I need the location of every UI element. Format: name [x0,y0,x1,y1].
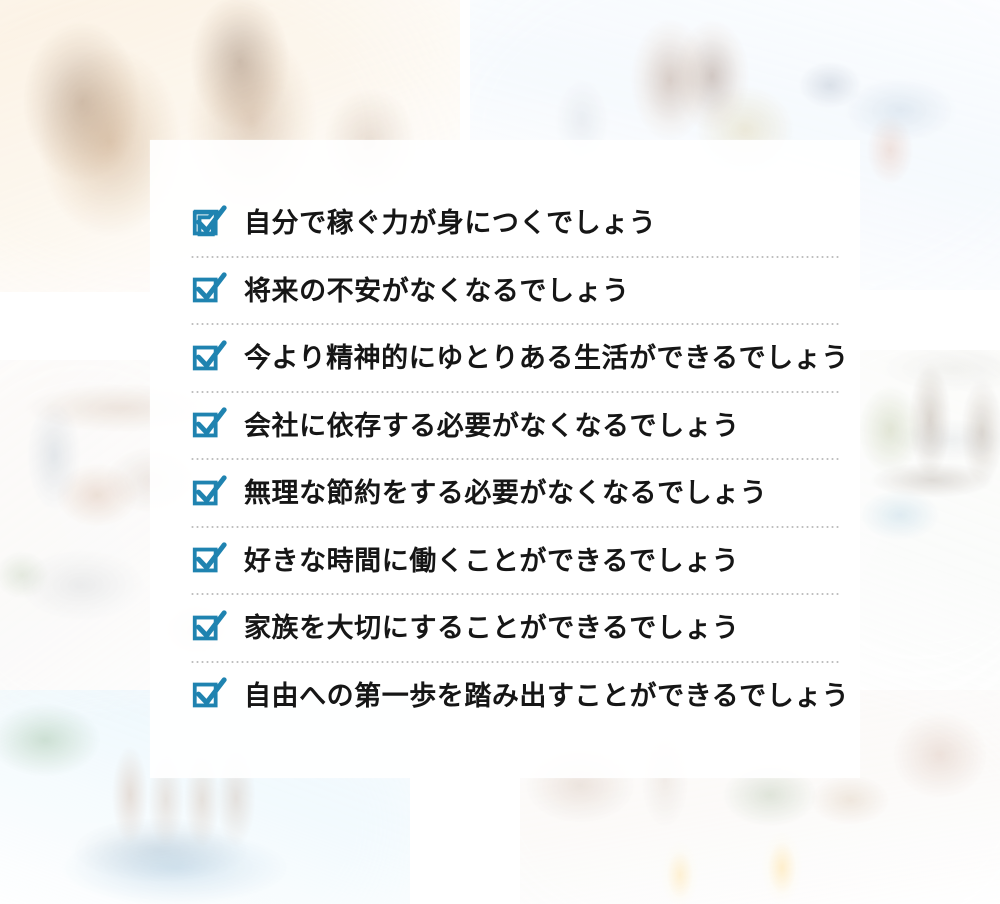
list-item-label: 将来の不安がなくなるでしょう [244,278,630,305]
checkbox-checked-icon [190,541,228,579]
list-item-label: 自分で稼ぐ力が身につくでしょう [244,210,656,237]
list-item: 自分で稼ぐ力が身につくでしょう [190,190,830,258]
checkbox-checked-icon [190,676,228,714]
list-item-label: 自由への第一歩を踏み出すことができるでしょう [244,683,849,710]
checkbox-checked-icon [190,406,228,444]
checkbox-checked-icon [190,474,228,512]
list-item-label: 無理な節約をする必要がなくなるでしょう [244,480,767,507]
list-item: 今より精神的にゆとりある生活ができるでしょう [190,325,830,393]
checkbox-checked-icon [190,271,228,309]
checkbox-checked-icon [190,609,228,647]
benefits-list: 自分で稼ぐ力が身につくでしょう 将来の不安がなくなるでしょう 今より精神的にゆと… [190,190,830,730]
benefits-card: 自分で稼ぐ力が身につくでしょう 将来の不安がなくなるでしょう 今より精神的にゆと… [150,140,860,778]
promo-benefits-screen: 自分で稼ぐ力が身につくでしょう 将来の不安がなくなるでしょう 今より精神的にゆと… [0,0,1000,904]
list-item-label: 好きな時間に働くことができるでしょう [244,548,739,575]
list-item: 家族を大切にすることができるでしょう [190,595,830,663]
list-item: 将来の不安がなくなるでしょう [190,258,830,326]
list-item: 好きな時間に働くことができるでしょう [190,528,830,596]
list-item-label: 今より精神的にゆとりある生活ができるでしょう [244,345,849,372]
list-item: 自由への第一歩を踏み出すことができるでしょう [190,663,830,731]
list-item-label: 会社に依存する必要がなくなるでしょう [244,413,740,440]
checkbox-checked-icon [190,339,228,377]
list-item-label: 家族を大切にすることができるでしょう [244,615,739,642]
list-item: 無理な節約をする必要がなくなるでしょう [190,460,830,528]
checkbox-checked-icon [190,204,228,242]
list-item: 会社に依存する必要がなくなるでしょう [190,393,830,461]
